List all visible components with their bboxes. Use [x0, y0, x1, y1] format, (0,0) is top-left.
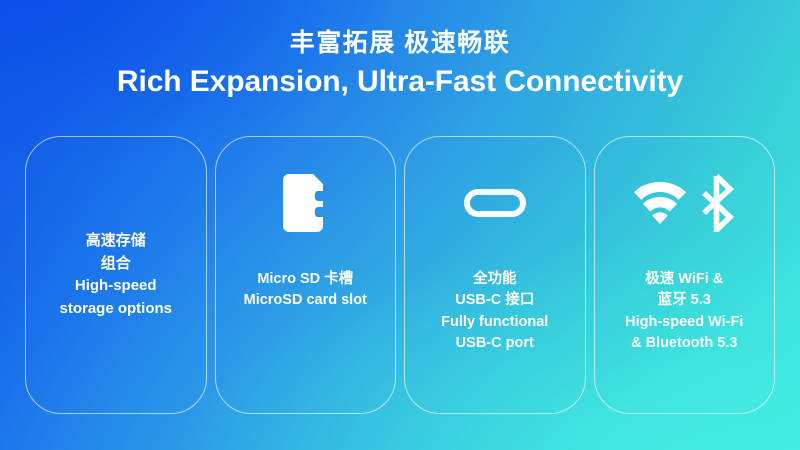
feature-card-microsd-card-slot[interactable]: Micro SD 卡槽 MicroSD card slot [215, 136, 397, 414]
card-line: 组合 [59, 253, 172, 276]
card-line: & Bluetooth 5.3 [625, 333, 743, 354]
feature-card-usb-c-port[interactable]: 全功能 USB-C 接口 Fully functional USB-C port [404, 136, 586, 414]
card-line: USB-C port [441, 333, 548, 354]
slide-root: 丰富拓展 极速畅联 Rich Expansion, Ultra-Fast Con… [0, 0, 800, 450]
card-line: 高速存储 [59, 230, 172, 253]
usb-c-port-icon [464, 189, 526, 217]
card-line: 全功能 [441, 269, 548, 290]
feature-card-high-speed-storage[interactable]: 高速存储 组合 High-speed storage options [25, 136, 207, 414]
card-line: Micro SD 卡槽 [244, 269, 367, 290]
icon-container [464, 137, 526, 269]
card-text-wifi-bluetooth: 极速 WiFi & 蓝牙 5.3 High-speed Wi-Fi & Blue… [617, 269, 751, 355]
icon-container [634, 137, 734, 269]
bluetooth-icon [700, 174, 734, 232]
title-block: 丰富拓展 极速畅联 Rich Expansion, Ultra-Fast Con… [0, 28, 800, 100]
page-title-english: Rich Expansion, Ultra-Fast Connectivity [0, 65, 800, 100]
page-title-chinese: 丰富拓展 极速畅联 [0, 28, 800, 58]
wifi-icon [634, 182, 686, 224]
card-line: High-speed [59, 275, 172, 298]
card-line: storage options [59, 298, 172, 321]
card-line: Fully functional [441, 312, 548, 333]
card-text-high-speed-storage: 高速存储 组合 High-speed storage options [51, 230, 180, 320]
card-text-microsd-card-slot: Micro SD 卡槽 MicroSD card slot [236, 269, 375, 312]
microsd-card-icon [283, 174, 327, 232]
feature-card-wifi-bluetooth[interactable]: 极速 WiFi & 蓝牙 5.3 High-speed Wi-Fi & Blue… [594, 136, 776, 414]
card-line: MicroSD card slot [244, 290, 367, 311]
card-text-usb-c-port: 全功能 USB-C 接口 Fully functional USB-C port [433, 269, 556, 355]
icon-container [283, 137, 327, 269]
card-line: High-speed Wi-Fi [625, 312, 743, 333]
card-line: USB-C 接口 [441, 290, 548, 311]
card-line: 极速 WiFi & [625, 269, 743, 290]
card-line: 蓝牙 5.3 [625, 290, 743, 311]
feature-card-row: 高速存储 组合 High-speed storage options Micro… [25, 136, 775, 414]
